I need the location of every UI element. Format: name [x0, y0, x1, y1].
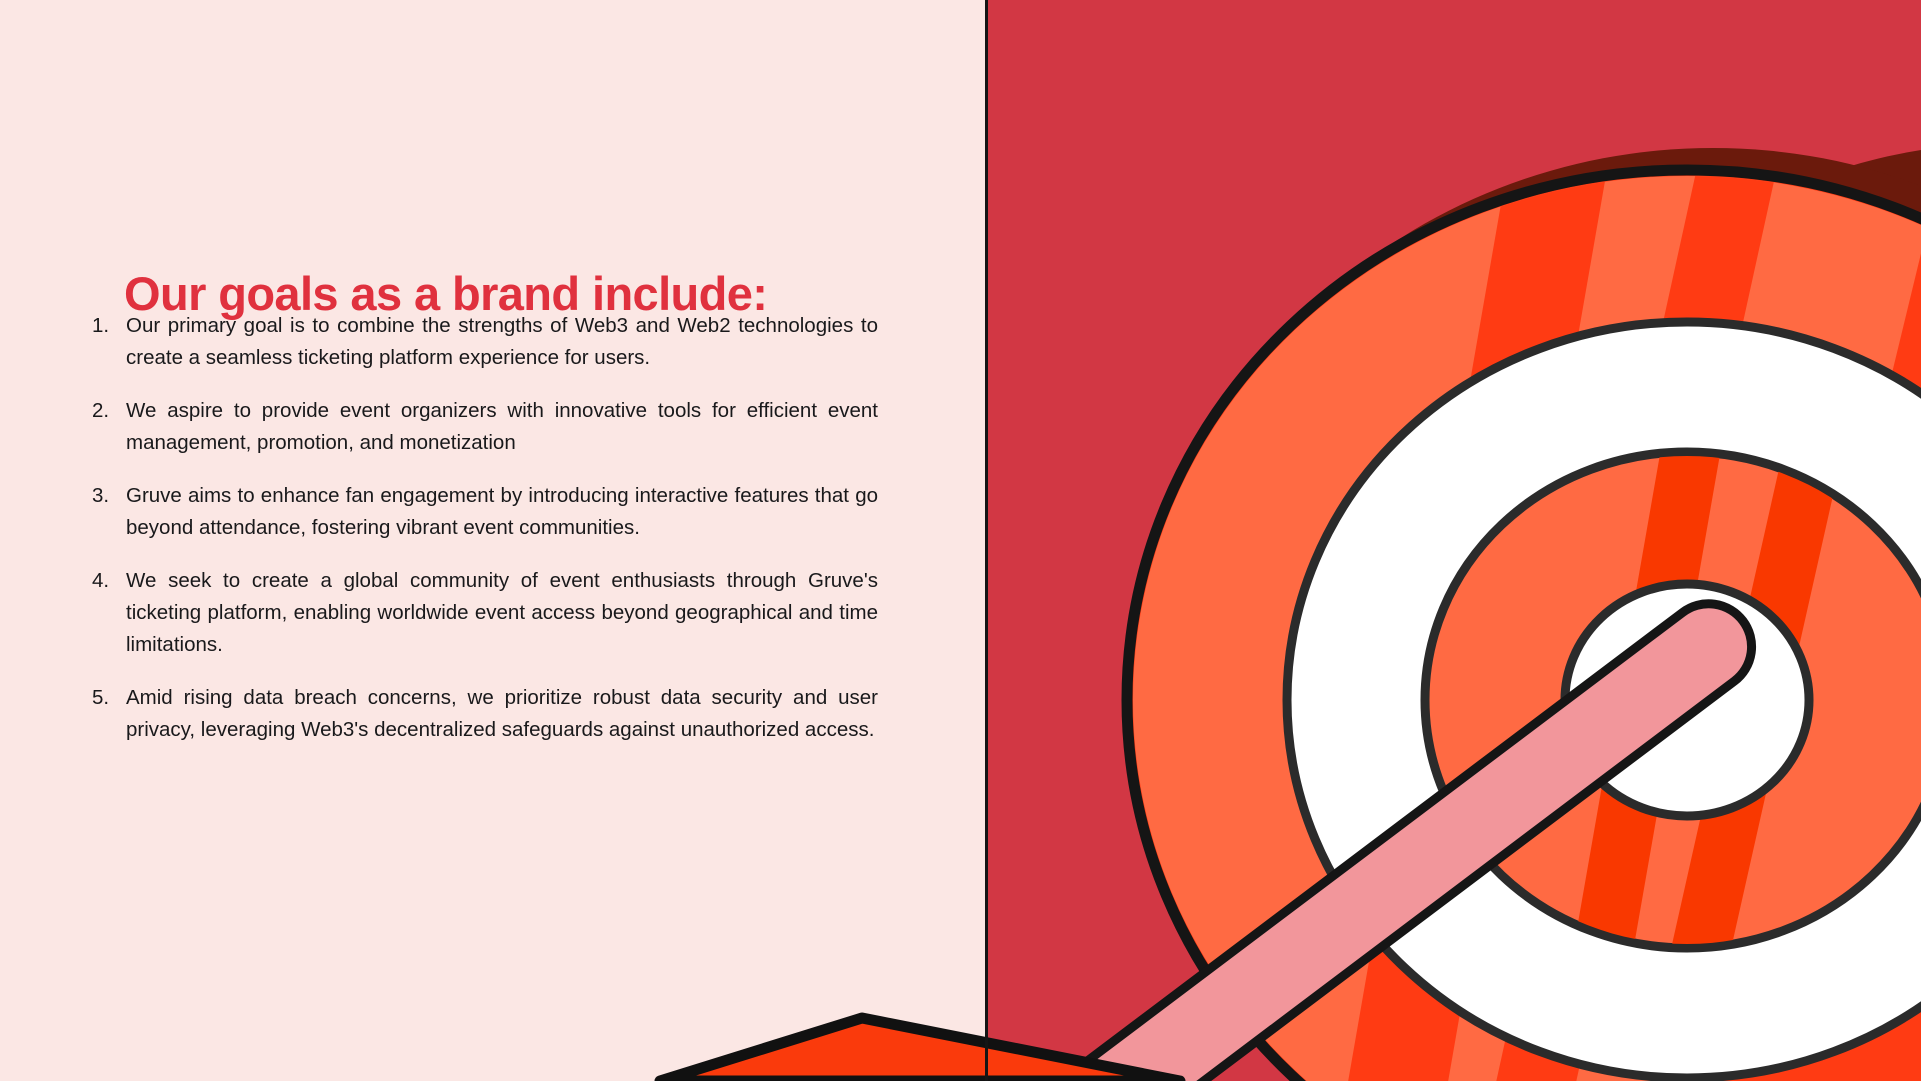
target-illustration-svg: [987, 0, 1921, 1081]
content-panel: Our goals as a brand include: 1. Our pri…: [0, 0, 987, 1081]
list-item-number: 2.: [92, 395, 126, 427]
panel-divider: [985, 0, 988, 1081]
list-item: 1. Our primary goal is to combine the st…: [92, 310, 878, 374]
slide-canvas: Our goals as a brand include: 1. Our pri…: [0, 0, 1921, 1081]
list-item-text: Gruve aims to enhance fan engagement by …: [126, 480, 878, 544]
list-item-text: We aspire to provide event organizers wi…: [126, 395, 878, 459]
list-item: 3. Gruve aims to enhance fan engagement …: [92, 480, 878, 544]
list-item-text: Amid rising data breach concerns, we pri…: [126, 682, 878, 746]
list-item-number: 5.: [92, 682, 126, 714]
list-item-text: We seek to create a global community of …: [126, 565, 878, 661]
list-item: 4. We seek to create a global community …: [92, 565, 878, 661]
goals-list: 1. Our primary goal is to combine the st…: [92, 310, 878, 767]
list-item-number: 4.: [92, 565, 126, 597]
target-illustration: [987, 0, 1921, 1081]
list-item-number: 1.: [92, 310, 126, 342]
list-item: 2. We aspire to provide event organizers…: [92, 395, 878, 459]
list-item-number: 3.: [92, 480, 126, 512]
list-item-text: Our primary goal is to combine the stren…: [126, 310, 878, 374]
list-item: 5. Amid rising data breach concerns, we …: [92, 682, 878, 746]
